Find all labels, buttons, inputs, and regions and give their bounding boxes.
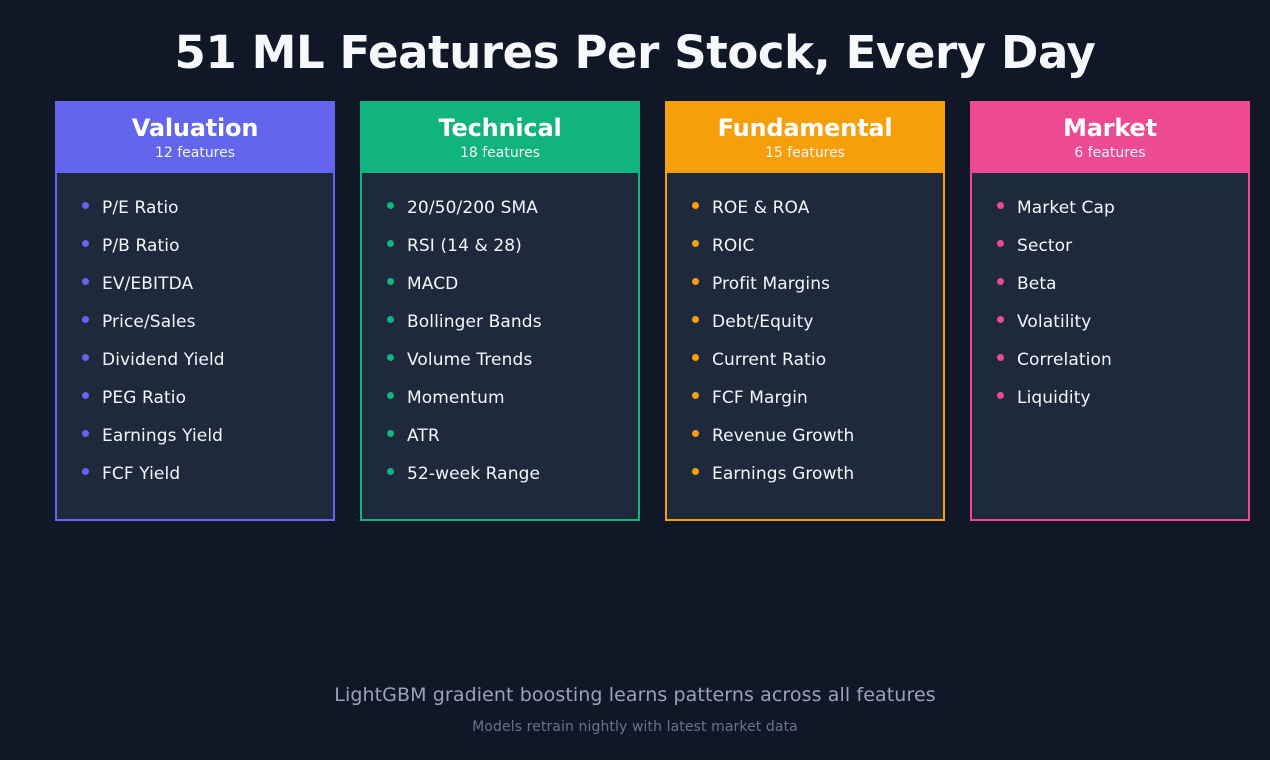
feature-label: Correlation	[1017, 341, 1112, 379]
list-item: RSI (14 & 28)	[362, 227, 638, 265]
bullet-dot-icon	[387, 392, 394, 399]
feature-label: RSI (14 & 28)	[407, 227, 522, 265]
list-item: Market Cap	[972, 189, 1248, 227]
feature-card-count: 18 features	[460, 144, 540, 162]
feature-card-body: Market CapSectorBetaVolatilityCorrelatio…	[972, 173, 1248, 519]
feature-label: 52-week Range	[407, 455, 540, 493]
feature-label: Profit Margins	[712, 265, 830, 303]
feature-category-cards: Valuation12 featuresP/E RatioP/B RatioEV…	[55, 101, 1250, 521]
feature-card-title: Valuation	[132, 116, 258, 142]
feature-label: Earnings Yield	[102, 417, 223, 455]
list-item: Dividend Yield	[57, 341, 333, 379]
bullet-dot-icon	[692, 468, 699, 475]
bullet-dot-icon	[387, 354, 394, 361]
feature-label: FCF Margin	[712, 379, 808, 417]
bullet-dot-icon	[82, 430, 89, 437]
list-item: Price/Sales	[57, 303, 333, 341]
list-item: PEG Ratio	[57, 379, 333, 417]
bullet-dot-icon	[387, 316, 394, 323]
feature-card-title: Technical	[439, 116, 562, 142]
list-item: Profit Margins	[667, 265, 943, 303]
feature-card-header: Market6 features	[972, 103, 1248, 173]
bullet-dot-icon	[387, 278, 394, 285]
list-item: Beta	[972, 265, 1248, 303]
feature-card-count: 6 features	[1074, 144, 1145, 162]
list-item: ROIC	[667, 227, 943, 265]
bullet-dot-icon	[82, 392, 89, 399]
list-item: Debt/Equity	[667, 303, 943, 341]
page-title: 51 ML Features Per Stock, Every Day	[0, 26, 1270, 79]
feature-label: P/E Ratio	[102, 189, 179, 227]
bullet-dot-icon	[692, 316, 699, 323]
bullet-dot-icon	[997, 392, 1004, 399]
feature-list: P/E RatioP/B RatioEV/EBITDAPrice/SalesDi…	[57, 189, 333, 493]
bullet-dot-icon	[387, 202, 394, 209]
footer: LightGBM gradient boosting learns patter…	[0, 684, 1270, 735]
feature-label: Bollinger Bands	[407, 303, 542, 341]
list-item: Momentum	[362, 379, 638, 417]
feature-label: ROE & ROA	[712, 189, 809, 227]
list-item: MACD	[362, 265, 638, 303]
list-item: ROE & ROA	[667, 189, 943, 227]
bullet-dot-icon	[692, 430, 699, 437]
feature-card: Fundamental15 featuresROE & ROAROICProfi…	[665, 101, 945, 521]
feature-card-header: Fundamental15 features	[667, 103, 943, 173]
feature-label: Price/Sales	[102, 303, 196, 341]
list-item: FCF Margin	[667, 379, 943, 417]
feature-label: ROIC	[712, 227, 754, 265]
bullet-dot-icon	[387, 240, 394, 247]
feature-card: Valuation12 featuresP/E RatioP/B RatioEV…	[55, 101, 335, 521]
bullet-dot-icon	[692, 392, 699, 399]
list-item: P/B Ratio	[57, 227, 333, 265]
feature-card-header: Valuation12 features	[57, 103, 333, 173]
bullet-dot-icon	[82, 278, 89, 285]
list-item: 52-week Range	[362, 455, 638, 493]
list-item: 20/50/200 SMA	[362, 189, 638, 227]
feature-card-count: 12 features	[155, 144, 235, 162]
feature-list: ROE & ROAROICProfit MarginsDebt/EquityCu…	[667, 189, 943, 493]
list-item: ATR	[362, 417, 638, 455]
bullet-dot-icon	[82, 354, 89, 361]
feature-label: EV/EBITDA	[102, 265, 193, 303]
slide-root: 51 ML Features Per Stock, Every Day Valu…	[0, 0, 1270, 760]
list-item: Volatility	[972, 303, 1248, 341]
feature-label: 20/50/200 SMA	[407, 189, 538, 227]
list-item: Sector	[972, 227, 1248, 265]
bullet-dot-icon	[387, 430, 394, 437]
feature-label: Momentum	[407, 379, 505, 417]
feature-card-title: Market	[1063, 116, 1157, 142]
bullet-dot-icon	[692, 240, 699, 247]
feature-card: Technical18 features20/50/200 SMARSI (14…	[360, 101, 640, 521]
bullet-dot-icon	[692, 278, 699, 285]
feature-label: MACD	[407, 265, 458, 303]
list-item: Correlation	[972, 341, 1248, 379]
list-item: Earnings Yield	[57, 417, 333, 455]
feature-label: Current Ratio	[712, 341, 826, 379]
list-item: Revenue Growth	[667, 417, 943, 455]
feature-label: Earnings Growth	[712, 455, 854, 493]
bullet-dot-icon	[692, 354, 699, 361]
feature-label: Market Cap	[1017, 189, 1115, 227]
bullet-dot-icon	[997, 240, 1004, 247]
feature-label: Sector	[1017, 227, 1072, 265]
feature-label: Debt/Equity	[712, 303, 814, 341]
feature-label: FCF Yield	[102, 455, 180, 493]
list-item: Volume Trends	[362, 341, 638, 379]
bullet-dot-icon	[997, 354, 1004, 361]
feature-card-body: P/E RatioP/B RatioEV/EBITDAPrice/SalesDi…	[57, 173, 333, 519]
feature-card-title: Fundamental	[718, 116, 893, 142]
footer-primary-text: LightGBM gradient boosting learns patter…	[0, 684, 1270, 706]
list-item: Earnings Growth	[667, 455, 943, 493]
feature-label: Beta	[1017, 265, 1057, 303]
list-item: Liquidity	[972, 379, 1248, 417]
feature-card-body: 20/50/200 SMARSI (14 & 28)MACDBollinger …	[362, 173, 638, 519]
feature-label: Dividend Yield	[102, 341, 225, 379]
feature-list: 20/50/200 SMARSI (14 & 28)MACDBollinger …	[362, 189, 638, 493]
bullet-dot-icon	[692, 202, 699, 209]
footer-secondary-text: Models retrain nightly with latest marke…	[0, 719, 1270, 735]
feature-label: P/B Ratio	[102, 227, 180, 265]
bullet-dot-icon	[997, 278, 1004, 285]
bullet-dot-icon	[82, 316, 89, 323]
list-item: EV/EBITDA	[57, 265, 333, 303]
feature-label: Liquidity	[1017, 379, 1091, 417]
feature-label: ATR	[407, 417, 440, 455]
bullet-dot-icon	[387, 468, 394, 475]
bullet-dot-icon	[82, 468, 89, 475]
feature-card-body: ROE & ROAROICProfit MarginsDebt/EquityCu…	[667, 173, 943, 519]
feature-label: PEG Ratio	[102, 379, 186, 417]
list-item: FCF Yield	[57, 455, 333, 493]
feature-label: Volume Trends	[407, 341, 532, 379]
list-item: Current Ratio	[667, 341, 943, 379]
bullet-dot-icon	[997, 202, 1004, 209]
list-item: P/E Ratio	[57, 189, 333, 227]
feature-list: Market CapSectorBetaVolatilityCorrelatio…	[972, 189, 1248, 417]
feature-label: Volatility	[1017, 303, 1091, 341]
bullet-dot-icon	[82, 202, 89, 209]
bullet-dot-icon	[997, 316, 1004, 323]
bullet-dot-icon	[82, 240, 89, 247]
feature-card: Market6 featuresMarket CapSectorBetaVola…	[970, 101, 1250, 521]
feature-label: Revenue Growth	[712, 417, 854, 455]
list-item: Bollinger Bands	[362, 303, 638, 341]
feature-card-count: 15 features	[765, 144, 845, 162]
feature-card-header: Technical18 features	[362, 103, 638, 173]
